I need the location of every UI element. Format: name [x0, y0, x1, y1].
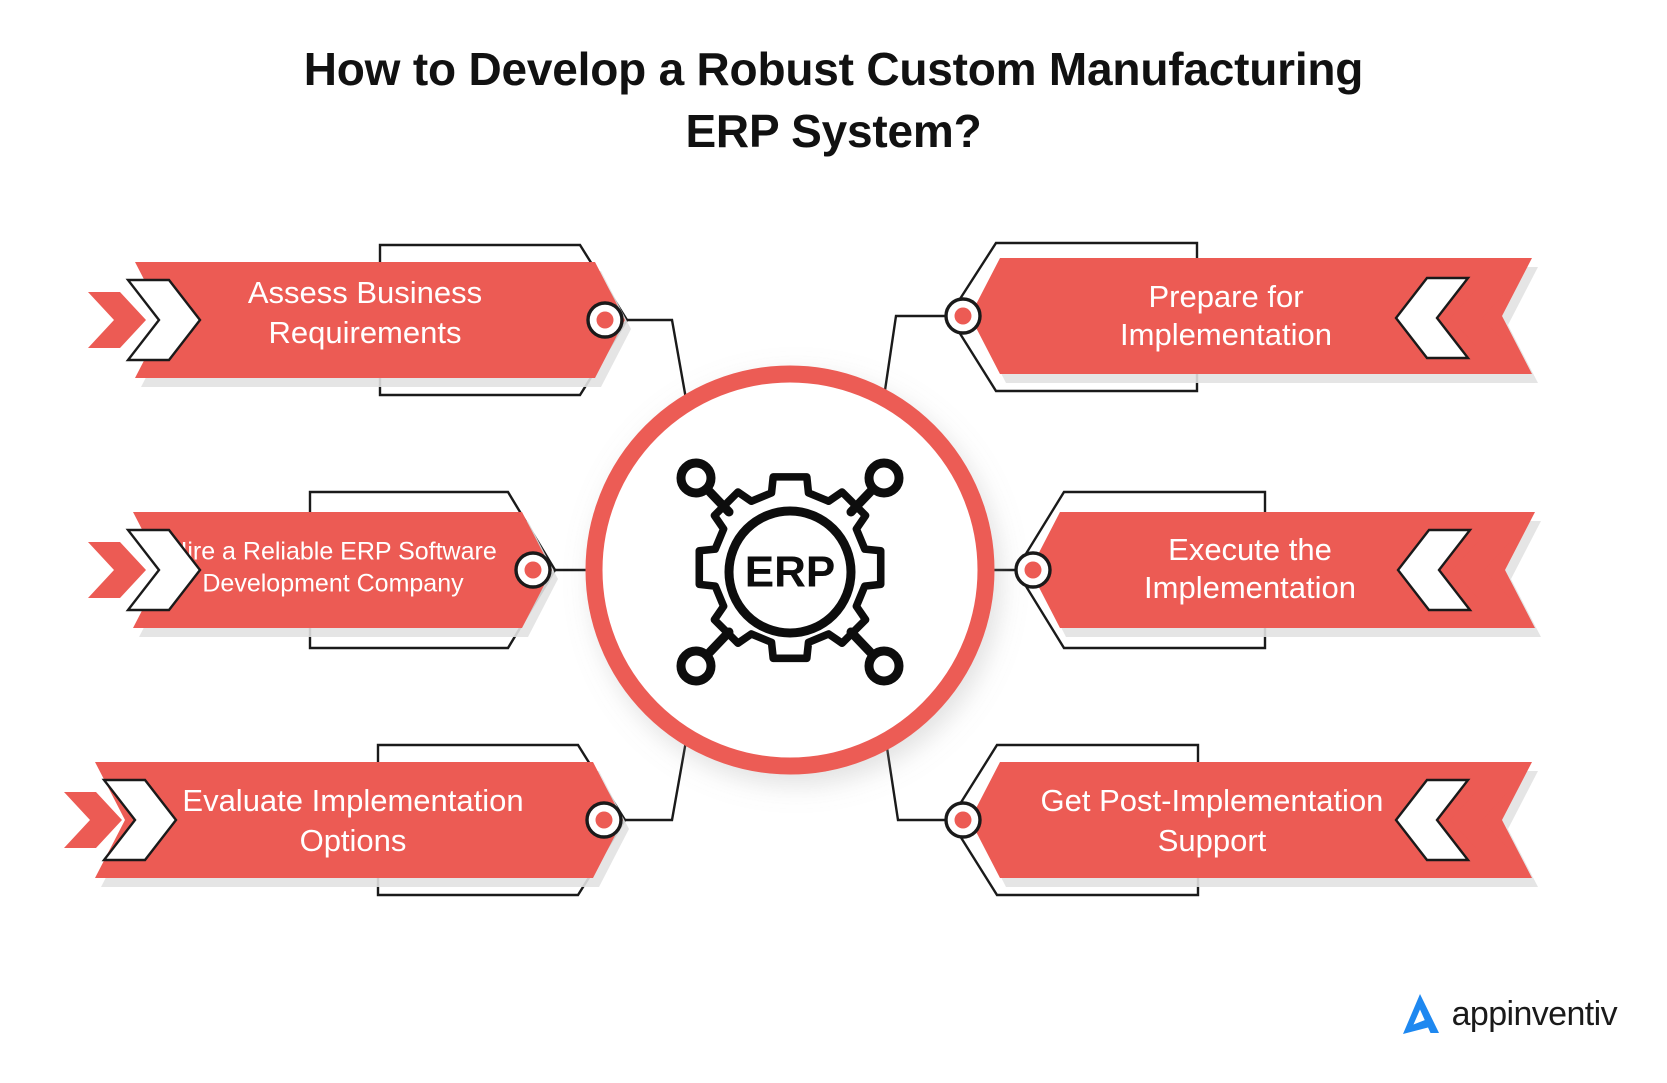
gear-inner-label: ERP: [745, 548, 835, 597]
brand-name: appinventiv: [1452, 997, 1617, 1031]
appinventiv-logo-mark: [1394, 989, 1446, 1039]
step-label-evaluate-implementation-options-line2: Options: [300, 823, 407, 858]
step-label-hire-reliable-erp-software-development-company-line1: Hire a Reliable ERP Software: [169, 538, 496, 566]
step-label-assess-business-requirements-line2: Requirements: [269, 315, 462, 350]
chevron-solid-left-row3: [64, 792, 122, 848]
step-label-execute-the-implementation-line1: Execute the: [1168, 532, 1332, 567]
node-dot-get-post-implementation-support[interactable]: [946, 803, 980, 837]
chevron-solid-left-row1: [88, 292, 146, 348]
node-dot-hire-reliable-erp-software-development-company[interactable]: [516, 553, 550, 587]
step-label-hire-reliable-erp-software-development-company-line2: Development Company: [202, 570, 464, 598]
node-dot-execute-the-implementation[interactable]: [1016, 553, 1050, 587]
brand-logo: appinventiv: [1394, 989, 1617, 1039]
step-label-prepare-for-implementation-line2: Implementation: [1120, 317, 1332, 352]
step-label-get-post-implementation-support-line1: Get Post-Implementation: [1041, 783, 1384, 818]
step-label-get-post-implementation-support-line2: Support: [1158, 823, 1267, 858]
step-label-assess-business-requirements-line1: Assess Business: [248, 275, 482, 310]
node-dot-assess-business-requirements[interactable]: [588, 303, 622, 337]
node-dot-prepare-for-implementation[interactable]: [946, 299, 980, 333]
chevron-solid-left-row2: [88, 542, 146, 598]
step-banner-assess-business-requirements[interactable]: Assess Business Requirements: [135, 262, 625, 378]
node-dot-evaluate-implementation-options[interactable]: [587, 803, 621, 837]
step-label-execute-the-implementation-line2: Implementation: [1144, 570, 1356, 605]
infographic-canvas: How to Develop a Robust Custom Manufactu…: [0, 0, 1667, 1083]
process-diagram: Assess Business Requirements Hire a Reli…: [0, 0, 1667, 1083]
step-label-prepare-for-implementation-line1: Prepare for: [1148, 279, 1303, 314]
step-label-evaluate-implementation-options-line1: Evaluate Implementation: [182, 783, 523, 818]
